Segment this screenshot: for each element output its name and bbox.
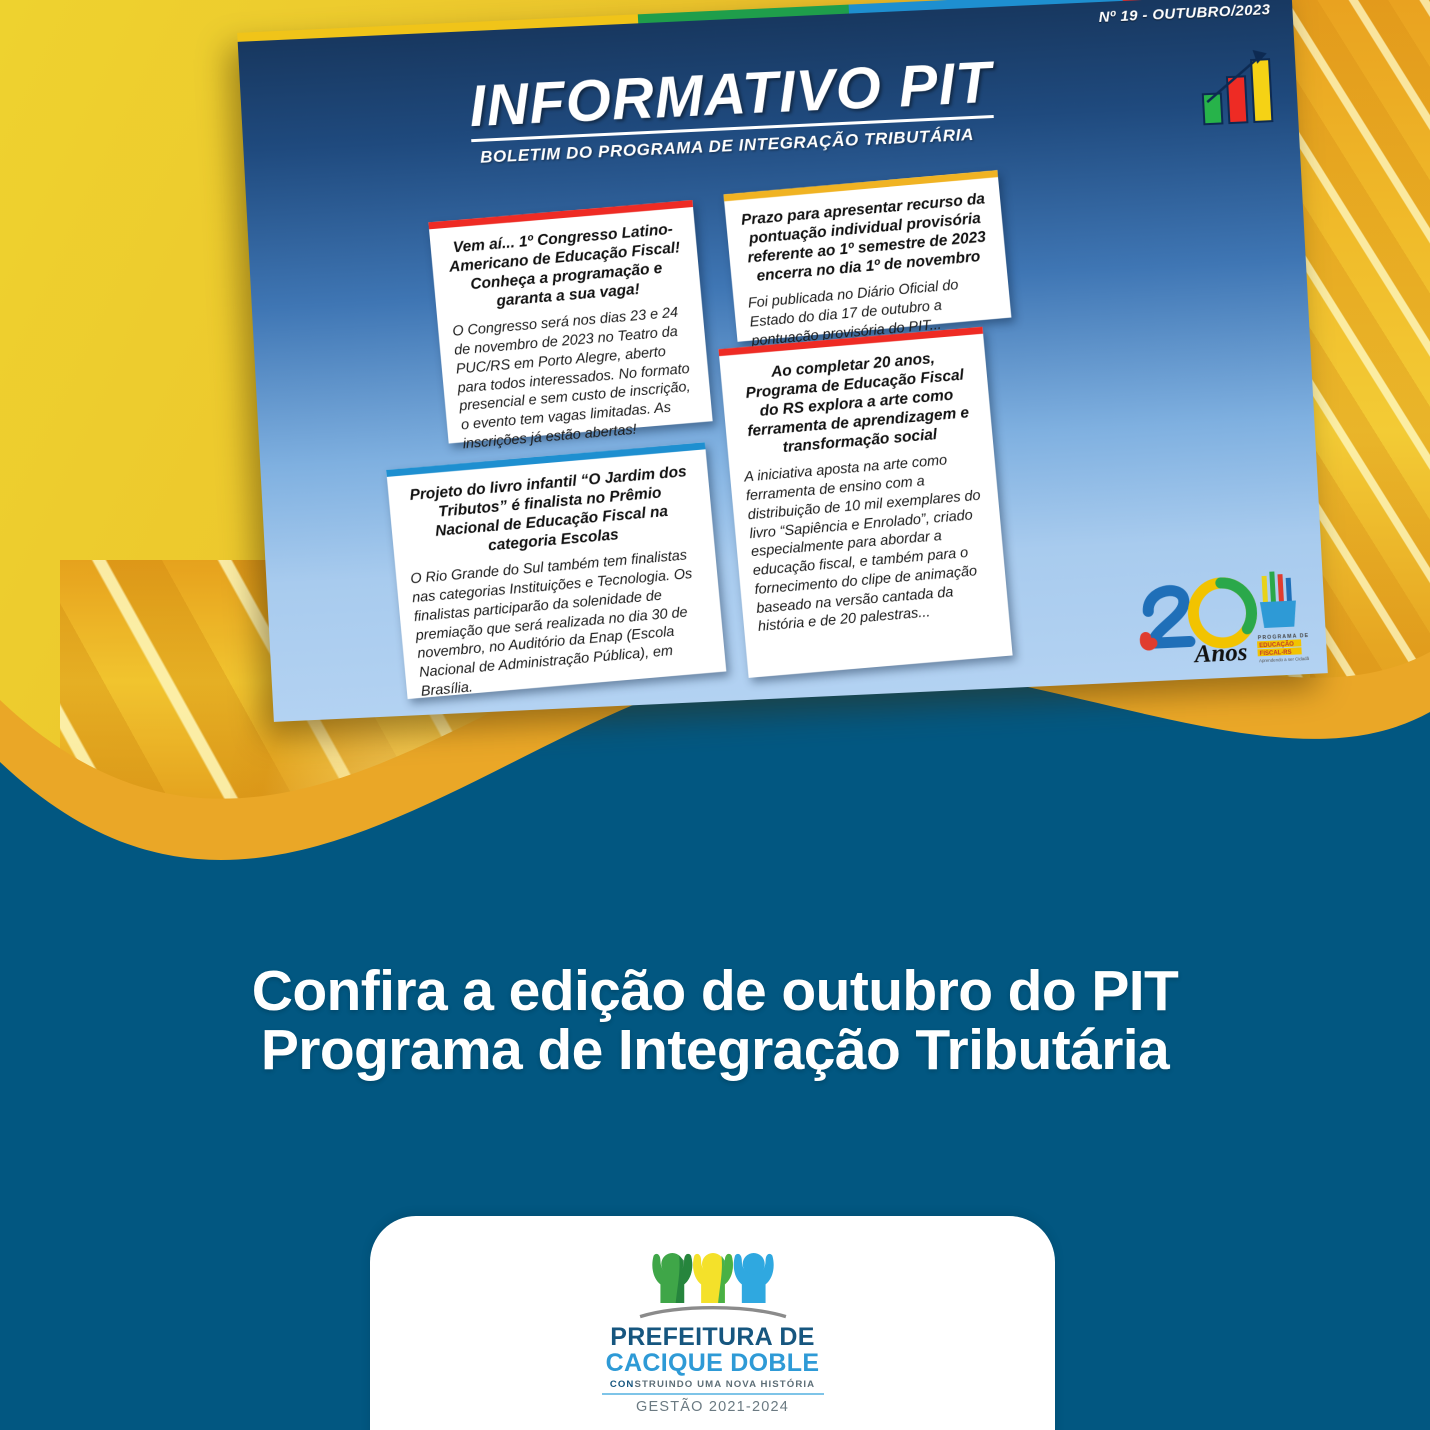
tagline-prefix: CON <box>610 1379 635 1390</box>
card-headline: Vem aí... 1º Congresso Latino-Americano … <box>444 219 687 315</box>
brand-name-line-2: CACIQUE DOBLE <box>588 1351 838 1377</box>
anos-word: Anos <box>1192 639 1248 668</box>
headline-line-1: Confira a edição de outubro do PIT <box>0 962 1430 1021</box>
strip-blue <box>848 0 1122 14</box>
brand-name-line-1: PREFEITURA DE <box>588 1325 838 1351</box>
brand-term: GESTÃO 2021-2024 <box>588 1399 838 1415</box>
card-body: O Rio Grande do Sul também tem finalista… <box>410 546 713 702</box>
news-card[interactable]: Projeto do livro infantil “O Jardim dos … <box>386 442 726 699</box>
brand-divider <box>602 1393 824 1395</box>
educacao-fiscal-wordmark: PROGRAMA DE EDUCAÇÃO FISCAL-RS Aprendend… <box>1257 633 1309 663</box>
svg-text:PROGRAMA DE: PROGRAMA DE <box>1258 633 1309 641</box>
brand-tagline: CONSTRUINDO UMA NOVA HISTÓRIA <box>588 1379 838 1390</box>
newsletter-page: Nº 19 - OUTUBRO/2023 INFORMATIVO PIT BOL… <box>237 0 1328 722</box>
news-card[interactable]: Prazo para apresentar recurso da pontuaç… <box>723 170 1011 342</box>
prefeitura-logo: PREFEITURA DE CACIQUE DOBLE CONSTRUINDO … <box>588 1242 838 1415</box>
tagline-rest: STRUINDO UMA NOVA HISTÓRIA <box>634 1379 815 1390</box>
three-people-raised-arms-icon <box>628 1242 798 1320</box>
pencil-cup-icon <box>1258 571 1297 629</box>
card-headline: Ao completar 20 anos, Programa de Educaç… <box>734 346 979 461</box>
news-card[interactable]: Ao completar 20 anos, Programa de Educaç… <box>718 327 1012 678</box>
svg-text:Aprendendo a ser Cidadão: Aprendendo a ser Cidadão <box>1259 656 1309 663</box>
twenty-glyph <box>1142 582 1253 647</box>
brand-card: PREFEITURA DE CACIQUE DOBLE CONSTRUINDO … <box>370 1216 1055 1430</box>
newsletter-document[interactable]: Nº 19 - OUTUBRO/2023 INFORMATIVO PIT BOL… <box>237 0 1328 722</box>
headline-line-2: Programa de Integração Tributária <box>0 1021 1430 1080</box>
card-headline: Prazo para apresentar recurso da pontuaç… <box>739 189 992 287</box>
news-card[interactable]: Vem aí... 1º Congresso Latino-Americano … <box>428 200 712 444</box>
masthead: INFORMATIVO PIT BOLETIM DO PROGRAMA DE I… <box>468 45 1192 168</box>
poster-canvas: Nº 19 - OUTUBRO/2023 INFORMATIVO PIT BOL… <box>0 0 1430 1430</box>
anniversary-20-anos-logo: Anos PROGRAMA DE EDUCAÇÃO FISCAL-RS Apre… <box>1134 564 1309 670</box>
issue-number: Nº 19 - OUTUBRO/2023 <box>1098 1 1271 26</box>
card-headline: Projeto do livro infantil “O Jardim dos … <box>402 461 700 562</box>
card-body: O Congresso será nos dias 23 e 24 de nov… <box>452 303 700 454</box>
bar-chart-growth-icon <box>1194 43 1284 133</box>
card-body: A iniciativa aposta na arte como ferrame… <box>744 449 996 637</box>
poster-headline: Confira a edição de outubro do PIT Progr… <box>0 962 1430 1079</box>
